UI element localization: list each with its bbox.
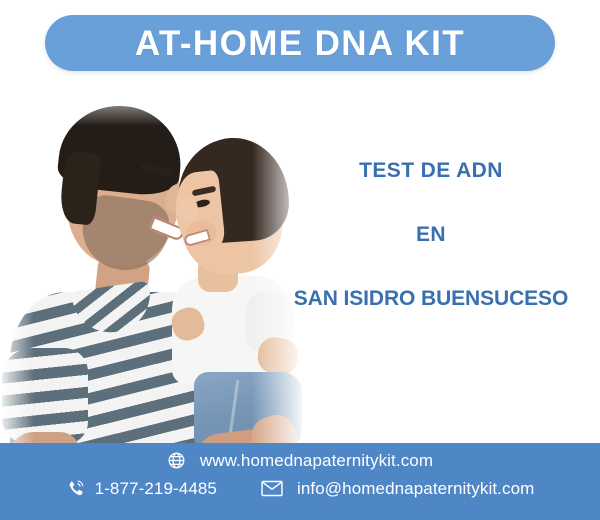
envelope-icon: [261, 480, 283, 497]
globe-icon: [167, 451, 186, 470]
phone-icon: [66, 479, 85, 498]
footer-bar: www.homednapaternitykit.com 1-877-219-44…: [0, 443, 600, 520]
header-banner: AT-HOME DNA KIT: [45, 15, 555, 71]
footer-email-item[interactable]: info@homednapaternitykit.com: [261, 480, 534, 497]
footer-phone-text[interactable]: 1-877-219-4485: [95, 480, 217, 497]
headline-line-service: TEST DE ADN: [262, 160, 600, 181]
headline-block: TEST DE ADN EN SAN ISIDRO BUENSUCESO: [262, 160, 600, 309]
footer-contact-row: 1-877-219-4485 info@homednapaternitykit.…: [0, 479, 600, 498]
page-title: AT-HOME DNA KIT: [135, 26, 465, 61]
footer-website-row: www.homednapaternitykit.com: [0, 451, 600, 470]
man-sleeve: [2, 348, 88, 444]
footer-website-text[interactable]: www.homednapaternitykit.com: [200, 452, 433, 469]
footer-email-text[interactable]: info@homednapaternitykit.com: [297, 480, 534, 497]
footer-phone-item[interactable]: 1-877-219-4485: [66, 479, 217, 498]
promo-banner-page: AT-HOME DNA KIT: [0, 0, 600, 520]
headline-line-preposition: EN: [262, 224, 600, 245]
headline-line-location: SAN ISIDRO BUENSUCESO: [262, 288, 600, 309]
